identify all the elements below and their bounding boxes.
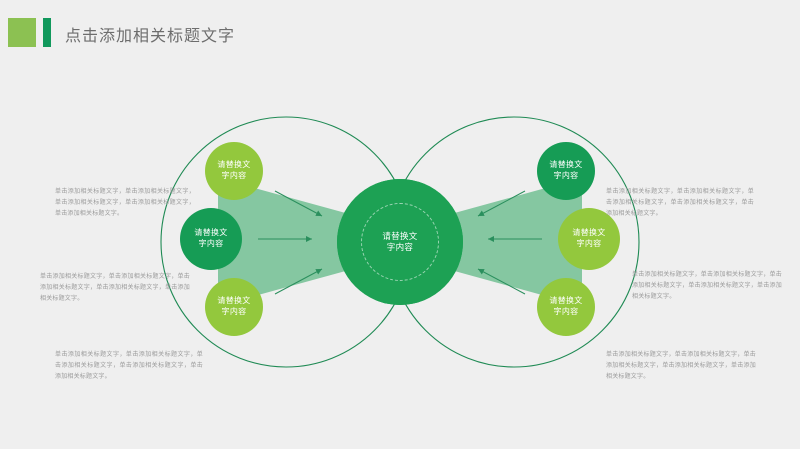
center-node[interactable]: 请替换文 字内容 bbox=[337, 179, 463, 305]
node-bottom-left-line1: 请替换文 bbox=[217, 296, 250, 307]
node-middle-right-line1: 请替换文 bbox=[572, 228, 605, 239]
node-top-left-line1: 请替换文 bbox=[217, 160, 250, 171]
node-middle-left-line1: 请替换文 bbox=[194, 228, 227, 239]
paragraph-left-bottom[interactable]: 单击添加相关标题文字，单击添加相关标题文字，单击添加相关标题文字，单击添加相关标… bbox=[55, 350, 203, 383]
node-bottom-right-line1: 请替换文 bbox=[549, 296, 582, 307]
node-top-left-line2: 字内容 bbox=[222, 171, 247, 182]
node-bottom-right-line2: 字内容 bbox=[554, 307, 579, 318]
center-node-line2: 字内容 bbox=[382, 242, 417, 253]
node-middle-right-line2: 字内容 bbox=[577, 239, 602, 250]
paragraph-right-top[interactable]: 单击添加相关标题文字，单击添加相关标题文字，单击添加相关标题文字，单击添加相关标… bbox=[606, 187, 754, 220]
node-bottom-right[interactable]: 请替换文 字内容 bbox=[537, 278, 595, 336]
paragraph-left-top[interactable]: 单击添加相关标题文字，单击添加相关标题文字，单击添加相关标题文字，单击添加相关标… bbox=[55, 187, 195, 220]
node-bottom-left[interactable]: 请替换文 字内容 bbox=[205, 278, 263, 336]
node-bottom-left-line2: 字内容 bbox=[222, 307, 247, 318]
center-node-line1: 请替换文 bbox=[382, 231, 417, 242]
page-title: 点击添加相关标题文字 bbox=[65, 22, 235, 46]
paragraph-left-middle[interactable]: 单击添加相关标题文字，单击添加相关标题文字，单击添加相关标题文字，单击添加相关标… bbox=[40, 272, 190, 305]
paragraph-right-bottom[interactable]: 单击添加相关标题文字，单击添加相关标题文字，单击添加相关标题文字，单击添加相关标… bbox=[606, 350, 756, 383]
node-top-left[interactable]: 请替换文 字内容 bbox=[205, 142, 263, 200]
node-top-right[interactable]: 请替换文 字内容 bbox=[537, 142, 595, 200]
node-middle-left-line2: 字内容 bbox=[199, 239, 224, 250]
node-top-right-line2: 字内容 bbox=[554, 171, 579, 182]
diagram-stage: 请替换文 字内容 请替换文 字内容 请替换文 字内容 请替换文 字内容 请替换文… bbox=[0, 60, 800, 449]
node-top-right-line1: 请替换文 bbox=[549, 160, 582, 171]
header-accent-block-light bbox=[8, 18, 36, 47]
paragraph-right-middle[interactable]: 单击添加相关标题文字，单击添加相关标题文字，单击添加相关标题文字，单击添加相关标… bbox=[632, 270, 782, 303]
slide-canvas: 点击添加相关标题文字 bbox=[0, 0, 800, 449]
header-accent-block-dark bbox=[43, 18, 51, 47]
